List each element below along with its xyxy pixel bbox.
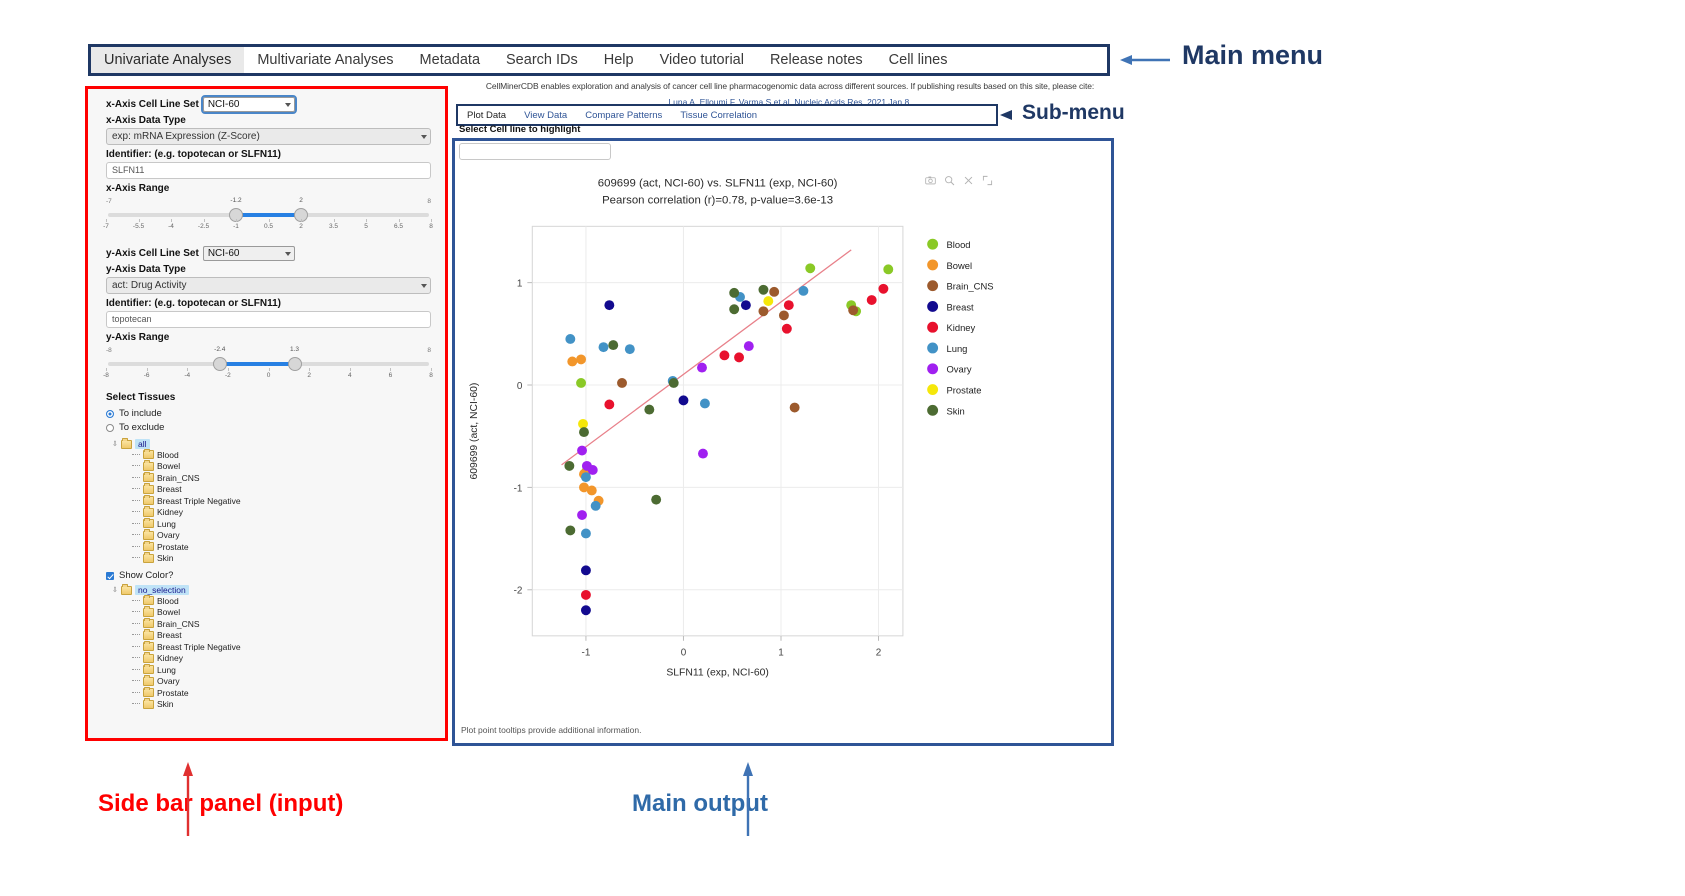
scatter-point[interactable] <box>576 354 586 364</box>
scatter-point[interactable] <box>883 264 893 274</box>
scatter-point[interactable] <box>848 305 858 315</box>
scatter-point[interactable] <box>581 605 591 615</box>
tissues-include-label: To include <box>119 408 162 419</box>
slider-tick-label: -2 <box>225 372 231 379</box>
scatter-point[interactable] <box>581 565 591 575</box>
scatter-point[interactable] <box>565 334 575 344</box>
scatter-plot[interactable]: 609699 (act, NCI-60) vs. SLFN11 (exp, NC… <box>455 165 1111 713</box>
x-slider-low-value: -1.2 <box>230 197 241 204</box>
y-axis-range-slider[interactable]: -8 8 -2.4 1.3 -8-6-4-202468 <box>106 347 431 381</box>
slider-tick-label: -8 <box>103 372 109 379</box>
plot-footer-note: Plot point tooltips provide additional i… <box>461 725 642 735</box>
folder-icon <box>143 450 154 459</box>
x-tick-label: -1 <box>582 648 591 659</box>
tissue-item-label: Brain_CNS <box>157 619 200 629</box>
scatter-point[interactable] <box>604 300 614 310</box>
tree-connector <box>132 611 140 613</box>
scatter-point[interactable] <box>565 525 575 535</box>
x-axis-range-slider[interactable]: -7 8 -1.2 2 -7-5.5-4-2.5-10.523.556.58 <box>106 198 431 232</box>
scatter-point[interactable] <box>581 590 591 600</box>
tree-connector <box>132 454 140 456</box>
main-output-panel: Select Cell line to highlight 609699 (ac… <box>452 138 1114 746</box>
scatter-point[interactable] <box>744 341 754 351</box>
annotation-sub-menu: Sub-menu <box>1022 101 1125 125</box>
legend-swatch[interactable] <box>927 259 938 270</box>
legend-label[interactable]: Ovary <box>947 364 972 375</box>
menu-item-search-ids[interactable]: Search IDs <box>493 47 591 73</box>
folder-icon <box>143 654 154 663</box>
slider-tick-mark <box>147 368 148 371</box>
slider-tick-label: -4 <box>168 223 174 230</box>
slider-tick-label: 8 <box>429 223 433 230</box>
tissue-item-label: Lung <box>157 519 176 529</box>
slider-tick-label: 0.5 <box>264 223 273 230</box>
slider-tick-mark <box>309 368 310 371</box>
tree-connector <box>132 477 140 479</box>
scatter-point[interactable] <box>782 324 792 334</box>
tissue-item-label: Breast <box>157 630 182 640</box>
expander-icon[interactable]: ⇩ <box>112 586 118 594</box>
tree-connector <box>132 488 140 490</box>
x-axis-cell-line-set-label: x-Axis Cell Line Set <box>106 98 199 112</box>
expander-icon[interactable]: ⇩ <box>112 440 118 448</box>
x-axis-range-label: x-Axis Range <box>106 182 431 196</box>
tissue-item[interactable]: Blood <box>132 595 431 607</box>
x-axis-identifier-value: SLFN11 <box>112 165 144 175</box>
scatter-point[interactable] <box>700 398 710 408</box>
y-tick-label: -1 <box>514 483 523 494</box>
scatter-point[interactable] <box>577 446 587 456</box>
legend-label[interactable]: Lung <box>947 343 968 354</box>
annotation-main-output: Main output <box>632 790 768 818</box>
scatter-point[interactable] <box>588 465 598 475</box>
y-axis-cell-line-set-value: NCI-60 <box>208 248 240 259</box>
legend-swatch[interactable] <box>927 280 938 291</box>
folder-icon <box>143 608 154 617</box>
tissue-item-label: Breast <box>157 484 182 494</box>
legend-label[interactable]: Bowel <box>947 260 973 271</box>
scatter-point[interactable] <box>651 495 661 505</box>
scatter-point[interactable] <box>790 403 800 413</box>
legend-swatch[interactable] <box>927 384 938 395</box>
radio-exclude-icon[interactable] <box>106 424 114 432</box>
folder-icon <box>143 677 154 686</box>
y-tick-label: 0 <box>517 381 523 392</box>
scatter-point[interactable] <box>604 400 614 410</box>
tissue-item-label: Blood <box>157 450 179 460</box>
tissue-item[interactable]: Brain_CNS <box>132 618 431 630</box>
scatter-point[interactable] <box>867 295 877 305</box>
chevron-down-icon <box>285 103 291 107</box>
y-axis-identifier-label: Identifier: (e.g. topotecan or SLFN11) <box>106 297 431 311</box>
y-axis-title: 609699 (act, NCI-60) <box>469 383 480 480</box>
tree-connector <box>132 511 140 513</box>
plot-svg: 609699 (act, NCI-60) vs. SLFN11 (exp, NC… <box>455 165 1111 713</box>
legend-label[interactable]: Prostate <box>947 385 982 396</box>
annotation-main-menu: Main menu <box>1182 40 1323 71</box>
citation-text: CellMinerCDB enables exploration and ana… <box>470 80 1110 92</box>
menu-item-release-notes[interactable]: Release notes <box>757 47 876 73</box>
tree-connector <box>132 646 140 648</box>
slider-tick-label: -2.5 <box>198 223 209 230</box>
slider-tick-label: -5.5 <box>133 223 144 230</box>
scatter-point[interactable] <box>581 472 591 482</box>
submenu-item-plot-data[interactable]: Plot Data <box>458 110 515 121</box>
scatter-point[interactable] <box>784 300 794 310</box>
scatter-point[interactable] <box>625 344 635 354</box>
tissue-item[interactable]: Lung <box>132 518 431 530</box>
menu-item-help[interactable]: Help <box>591 47 647 73</box>
folder-icon <box>143 554 154 563</box>
slider-tick-label: 6.5 <box>394 223 403 230</box>
tissue-root-label: all <box>135 439 150 449</box>
y-axis-data-type-value: act: Drug Activity <box>112 280 186 291</box>
sidebar-panel: x-Axis Cell Line Set NCI-60 x-Axis Data … <box>85 86 448 741</box>
tissue-item-label: Lung <box>157 665 176 675</box>
folder-icon <box>143 508 154 517</box>
chevron-down-icon <box>421 135 427 139</box>
chevron-down-icon <box>285 252 291 256</box>
tissue-item[interactable]: Ovary <box>132 530 431 542</box>
slider-tick-mark <box>187 368 188 371</box>
tissue-item-label: Blood <box>157 596 179 606</box>
slider-tick-label: 8 <box>429 372 433 379</box>
scatter-point[interactable] <box>719 350 729 360</box>
slider-tick-mark <box>139 219 140 222</box>
tissue-item[interactable]: Kidney <box>132 507 431 519</box>
scatter-point[interactable] <box>769 287 779 297</box>
scatter-point[interactable] <box>576 378 586 388</box>
menu-item-cell-lines[interactable]: Cell lines <box>876 47 961 73</box>
tree-connector <box>132 465 140 467</box>
scatter-point[interactable] <box>679 395 689 405</box>
submenu-item-view-data[interactable]: View Data <box>515 110 576 121</box>
slider-tick-mark <box>334 219 335 222</box>
scatter-point[interactable] <box>741 300 751 310</box>
y-axis-cell-line-set-select[interactable]: NCI-60 <box>203 246 295 261</box>
legend-label[interactable]: Kidney <box>947 322 976 333</box>
y-axis-data-type-label: y-Axis Data Type <box>106 263 431 277</box>
slider-tick-label: -4 <box>184 372 190 379</box>
tree-connector <box>132 534 140 536</box>
tree-connector <box>132 680 140 682</box>
legend-swatch[interactable] <box>927 322 938 333</box>
tissue-item[interactable]: Prostate <box>132 687 431 699</box>
folder-icon <box>143 519 154 528</box>
tissue-item-label: Skin <box>157 699 174 709</box>
scatter-point[interactable] <box>579 427 589 437</box>
menu-item-video-tutorial[interactable]: Video tutorial <box>647 47 757 73</box>
folder-icon <box>143 596 154 605</box>
slider-tick-mark <box>399 219 400 222</box>
tissues-include-radio-row[interactable]: To include <box>106 408 431 419</box>
y-axis-identifier-value: topotecan <box>112 314 152 324</box>
scatter-point[interactable] <box>617 378 627 388</box>
tree-connector <box>132 523 140 525</box>
scatter-point[interactable] <box>697 363 707 373</box>
y-axis-data-type-select[interactable]: act: Drug Activity <box>106 277 431 294</box>
x-range-max-cap: 8 <box>427 198 431 205</box>
submenu-item-compare-patterns[interactable]: Compare Patterns <box>576 110 671 121</box>
x-range-min-cap: -7 <box>106 198 112 205</box>
scatter-point[interactable] <box>567 357 577 367</box>
slider-tick-label: 2 <box>299 223 303 230</box>
tree-connector <box>132 500 140 502</box>
tissue-item[interactable]: Prostate <box>132 541 431 553</box>
scatter-point[interactable] <box>729 304 739 314</box>
x-tick-label: 0 <box>681 648 687 659</box>
folder-icon <box>143 631 154 640</box>
slider-tick-mark <box>390 368 391 371</box>
scatter-point[interactable] <box>758 285 768 295</box>
scatter-point[interactable] <box>805 263 815 273</box>
y-axis-identifier-input[interactable]: topotecan <box>106 311 431 328</box>
main-menu-bar[interactable]: Univariate AnalysesMultivariate Analyses… <box>88 44 1110 76</box>
legend-label[interactable]: Breast <box>947 301 975 312</box>
slider-tick-mark <box>301 219 302 222</box>
tissue-item[interactable]: Brain_CNS <box>132 472 431 484</box>
legend-label[interactable]: Skin <box>947 405 965 416</box>
folder-icon <box>143 542 154 551</box>
y-slider-low-value: -2.4 <box>214 346 225 353</box>
tree-connector <box>132 546 140 548</box>
scatter-point[interactable] <box>729 288 739 298</box>
slider-tick-mark <box>269 368 270 371</box>
scatter-point[interactable] <box>599 342 609 352</box>
scatter-point[interactable] <box>581 529 591 539</box>
slider-tick-label: 4 <box>348 372 352 379</box>
scatter-point[interactable] <box>587 486 597 496</box>
tissue-item[interactable]: Skin <box>132 699 431 711</box>
scatter-point[interactable] <box>669 378 679 388</box>
folder-icon <box>143 462 154 471</box>
slider-tick-label: 0 <box>267 372 271 379</box>
scatter-point[interactable] <box>779 310 789 320</box>
tissue-item-label: Ovary <box>157 530 180 540</box>
legend-swatch[interactable] <box>927 405 938 416</box>
tissue-item-label: Bowel <box>157 607 180 617</box>
show-color-label: Show Color? <box>119 570 173 581</box>
plot-title-line2: Pearson correlation (r)=0.78, p-value=3.… <box>602 195 833 207</box>
y-slider-ticks: -8-6-4-202468 <box>106 368 431 380</box>
tissue-item-label: Breast Triple Negative <box>157 496 241 506</box>
scatter-point[interactable] <box>608 340 618 350</box>
slider-tick-label: 3.5 <box>329 223 338 230</box>
y-tick-label: -2 <box>514 586 523 597</box>
folder-icon <box>143 700 154 709</box>
legend-label[interactable]: Blood <box>947 239 971 250</box>
y-axis-cell-line-set-row: y-Axis Cell Line Set NCI-60 <box>106 246 431 261</box>
tissue-item-label: Kidney <box>157 653 183 663</box>
tissue-item[interactable]: Breast Triple Negative <box>132 641 431 653</box>
tissue-item-label: Bowel <box>157 461 180 471</box>
x-axis-identifier-input[interactable]: SLFN11 <box>106 162 431 179</box>
tissue-tree-color[interactable]: ⇩ no_selection BloodBowelBrain_CNSBreast… <box>106 585 431 710</box>
tissues-exclude-radio-row[interactable]: To exclude <box>106 422 431 433</box>
tissue-item-label: Prostate <box>157 688 189 698</box>
tissue-item[interactable]: Lung <box>132 664 431 676</box>
radio-include-icon[interactable] <box>106 410 114 418</box>
tree-connector <box>132 692 140 694</box>
slider-tick-mark <box>204 219 205 222</box>
menu-item-multivariate-analyses[interactable]: Multivariate Analyses <box>244 47 406 73</box>
scatter-point[interactable] <box>734 352 744 362</box>
tissue-tree-include[interactable]: ⇩ all BloodBowelBrain_CNSBreastBreast Tr… <box>106 439 431 564</box>
tree-connector <box>132 634 140 636</box>
folder-icon <box>121 586 132 595</box>
x-axis-data-type-label: x-Axis Data Type <box>106 114 431 128</box>
slider-tick-label: 2 <box>307 372 311 379</box>
tissue-item[interactable]: Blood <box>132 449 431 461</box>
slider-tick-mark <box>171 219 172 222</box>
tissue-item[interactable]: Breast <box>132 484 431 496</box>
scatter-point[interactable] <box>798 286 808 296</box>
plot-title-line1: 609699 (act, NCI-60) vs. SLFN11 (exp, NC… <box>598 178 838 190</box>
slider-tick-mark <box>366 219 367 222</box>
folder-icon <box>143 665 154 674</box>
tree-connector <box>132 703 140 705</box>
checkbox-show-color-icon[interactable] <box>106 572 114 580</box>
folder-icon <box>143 485 154 494</box>
tree-connector <box>132 623 140 625</box>
show-color-row[interactable]: Show Color? <box>106 570 431 581</box>
x-axis-data-type-select[interactable]: exp: mRNA Expression (Z-Score) <box>106 128 431 145</box>
x-slider-high-value: 2 <box>299 197 303 204</box>
slider-tick-mark <box>106 368 107 371</box>
tissue-item[interactable]: Ovary <box>132 676 431 688</box>
tissue-tree-root-all[interactable]: ⇩ all <box>112 439 431 449</box>
sub-menu-bar[interactable]: Plot DataView DataCompare PatternsTissue… <box>456 104 998 126</box>
scatter-point[interactable] <box>644 405 654 415</box>
slider-tick-label: -6 <box>144 372 150 379</box>
highlight-cell-line-input[interactable] <box>459 143 611 160</box>
menu-item-metadata[interactable]: Metadata <box>407 47 493 73</box>
slider-tick-mark <box>106 219 107 222</box>
tree-connector <box>132 557 140 559</box>
tissue-item[interactable]: Breast <box>132 630 431 642</box>
select-tissues-title: Select Tissues <box>106 391 431 405</box>
scatter-point[interactable] <box>878 284 888 294</box>
slider-tick-mark <box>269 219 270 222</box>
x-slider-ticks: -7-5.5-4-2.5-10.523.556.58 <box>106 219 431 231</box>
y-axis-cell-line-set-label: y-Axis Cell Line Set <box>106 247 199 261</box>
y-slider-selected-range <box>220 362 295 366</box>
legend-swatch[interactable] <box>927 343 938 354</box>
tree-connector <box>132 657 140 659</box>
slider-tick-label: -1 <box>233 223 239 230</box>
tissue-item-label: Prostate <box>157 542 189 552</box>
scatter-point[interactable] <box>763 296 773 306</box>
x-axis-cell-line-set-value: NCI-60 <box>208 99 240 110</box>
tissue-item-label: Kidney <box>157 507 183 517</box>
folder-icon <box>121 440 132 449</box>
tissue-item[interactable]: Bowel <box>132 461 431 473</box>
tissue-item-label: Skin <box>157 553 174 563</box>
tissue-item-label: Ovary <box>157 676 180 686</box>
scatter-point[interactable] <box>577 510 587 520</box>
scatter-point[interactable] <box>564 461 574 471</box>
tissue-tree-root-no-selection[interactable]: ⇩ no_selection <box>112 585 431 595</box>
tissue-item[interactable]: Breast Triple Negative <box>132 495 431 507</box>
menu-item-univariate-analyses[interactable]: Univariate Analyses <box>91 47 244 73</box>
folder-icon <box>143 496 154 505</box>
x-tick-label: 1 <box>778 648 784 659</box>
scatter-point[interactable] <box>758 306 768 316</box>
legend-label[interactable]: Brain_CNS <box>947 281 994 292</box>
folder-icon <box>143 619 154 628</box>
x-axis-cell-line-set-select[interactable]: NCI-60 <box>203 97 295 112</box>
color-root-label: no_selection <box>135 585 189 595</box>
y-range-max-cap: 8 <box>427 347 431 354</box>
tissue-item[interactable]: Bowel <box>132 607 431 619</box>
folder-icon <box>143 531 154 540</box>
annotation-sidebar: Side bar panel (input) <box>98 790 343 818</box>
scatter-point[interactable] <box>698 449 708 459</box>
x-axis-title: SLFN11 (exp, NCI-60) <box>666 667 769 678</box>
y-tick-label: 1 <box>517 279 523 290</box>
folder-icon <box>143 688 154 697</box>
tree-connector <box>132 600 140 602</box>
chevron-down-icon <box>421 284 427 288</box>
slider-tick-mark <box>228 368 229 371</box>
tissue-item-label: Brain_CNS <box>157 473 200 483</box>
folder-icon <box>143 473 154 482</box>
legend-swatch[interactable] <box>927 239 938 250</box>
tissue-item[interactable]: Skin <box>132 553 431 565</box>
folder-icon <box>143 642 154 651</box>
tissues-exclude-label: To exclude <box>119 422 164 433</box>
y-slider-high-value: 1.3 <box>290 346 299 353</box>
tree-connector <box>132 669 140 671</box>
x-slider-selected-range <box>236 213 301 217</box>
slider-tick-label: -7 <box>103 223 109 230</box>
tissue-item-label: Breast Triple Negative <box>157 642 241 652</box>
x-tick-label: 2 <box>876 648 882 659</box>
y-axis-range-label: y-Axis Range <box>106 331 431 345</box>
submenu-item-tissue-correlation[interactable]: Tissue Correlation <box>671 110 766 121</box>
scatter-point[interactable] <box>591 501 601 511</box>
slider-tick-mark <box>431 368 432 371</box>
slider-tick-mark <box>431 219 432 222</box>
highlight-cell-line-label: Select Cell line to highlight <box>459 124 580 135</box>
x-axis-cell-line-set-row: x-Axis Cell Line Set NCI-60 <box>106 97 431 112</box>
legend-swatch[interactable] <box>927 301 938 312</box>
y-range-min-cap: -8 <box>106 347 112 354</box>
legend-swatch[interactable] <box>927 363 938 374</box>
x-axis-identifier-label: Identifier: (e.g. topotecan or SLFN11) <box>106 148 431 162</box>
tissue-item[interactable]: Kidney <box>132 653 431 665</box>
slider-tick-mark <box>350 368 351 371</box>
slider-tick-label: 6 <box>389 372 393 379</box>
x-axis-data-type-value: exp: mRNA Expression (Z-Score) <box>112 131 260 142</box>
slider-tick-label: 5 <box>364 223 368 230</box>
slider-tick-mark <box>236 219 237 222</box>
